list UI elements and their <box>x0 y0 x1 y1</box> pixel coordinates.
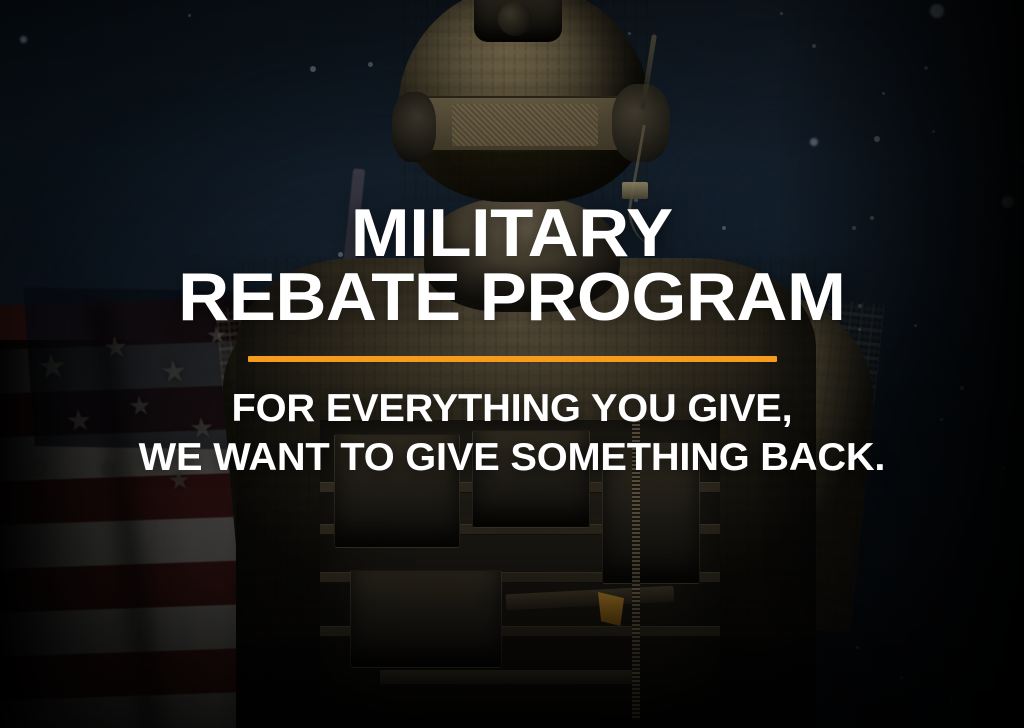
military-rebate-banner: ★★★★★★★★★★★ <box>0 0 1024 728</box>
page-title: MILITARY REBATE PROGRAM <box>178 202 845 330</box>
headline-line-1: MILITARY <box>178 202 845 266</box>
accent-divider <box>248 356 777 362</box>
banner-content: MILITARY REBATE PROGRAM FOR EVERYTHING Y… <box>0 0 1024 728</box>
subtitle-line-2: WE WANT TO GIVE SOMETHING BACK. <box>139 433 886 482</box>
subtitle: FOR EVERYTHING YOU GIVE, WE WANT TO GIVE… <box>139 384 886 482</box>
headline-line-2: REBATE PROGRAM <box>178 266 845 330</box>
subtitle-line-1: FOR EVERYTHING YOU GIVE, <box>139 384 886 433</box>
